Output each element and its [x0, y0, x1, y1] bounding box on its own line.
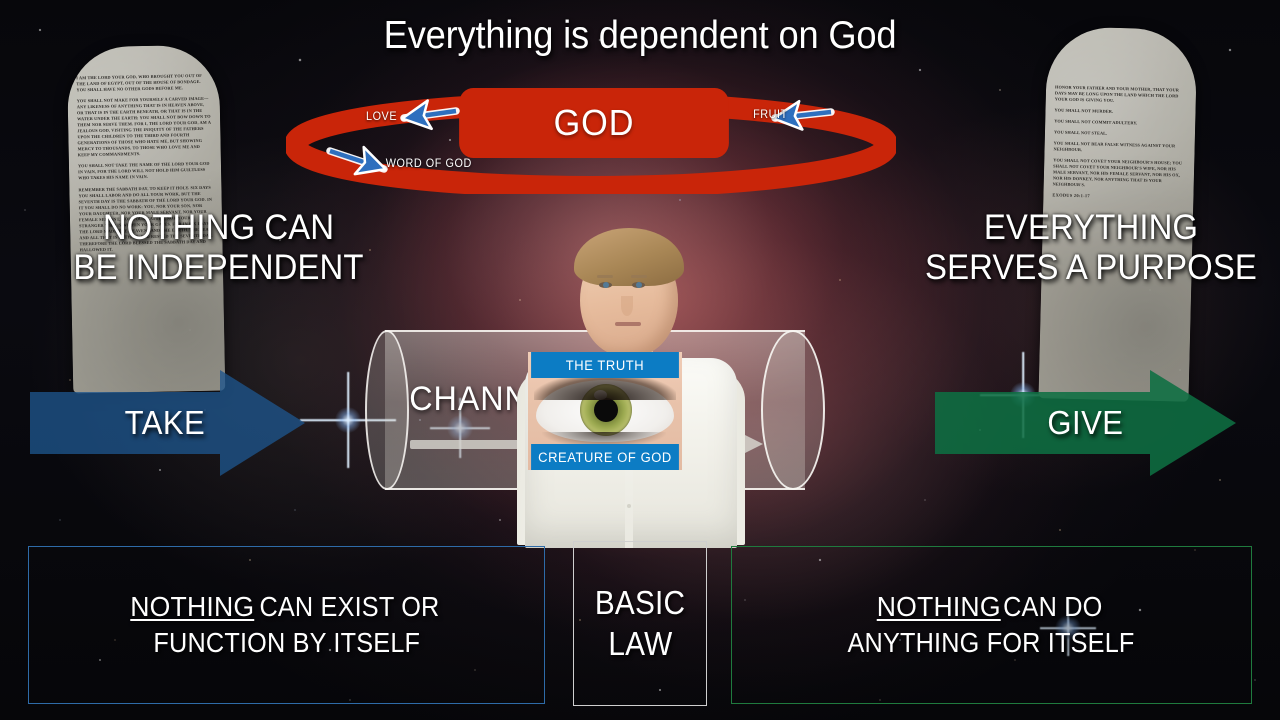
tablet-right-paragraph: You shall not commit adultery.: [1054, 119, 1186, 128]
person-nose: [621, 296, 633, 316]
give-arrow: GIVE: [935, 370, 1236, 476]
tablet-right-reference: Exodus 20:1-17: [1052, 193, 1184, 202]
cylinder-left-opening: [365, 330, 409, 490]
ring-label-word-of-god: WORD OF GOD: [386, 158, 472, 170]
eye-card: THE TRUTH CREATURE OF GOD: [528, 352, 682, 470]
take-arrow: TAKE: [30, 370, 305, 476]
heading-left: NOTHING CAN BE INDEPENDENT: [56, 208, 380, 288]
person-eyebrow-left: [597, 275, 613, 278]
heading-left-line2: BE INDEPENDENT: [56, 248, 380, 288]
bottom-box-left-rest1: CAN EXIST OR: [258, 589, 438, 625]
bottom-box-right: NOTHING CAN DO ANYTHING FOR ITSELF: [731, 546, 1252, 704]
page-title: Everything is dependent on God: [45, 16, 1235, 55]
bottom-box-right-text: NOTHING CAN DO ANYTHING FOR ITSELF: [840, 589, 1142, 661]
bottom-box-middle-line1: BASIC: [595, 583, 685, 624]
heading-left-line1: NOTHING CAN: [56, 208, 380, 248]
tablet-right-paragraph: Honor your father and your mother, that …: [1055, 84, 1187, 105]
tablet-left-paragraph: You shall not make for yourself a carved…: [77, 96, 212, 159]
bottom-box-right-line2: ANYTHING FOR ITSELF: [848, 625, 1135, 661]
bottom-box-right-emphasis: NOTHING: [877, 591, 1001, 622]
heading-right-line1: EVERYTHING: [916, 208, 1266, 248]
tablet-right-paragraph: You shall not covet your neighbour's hou…: [1053, 158, 1186, 191]
person-eye-right: [632, 282, 645, 288]
take-arrow-head-icon: [220, 370, 305, 476]
bottom-box-middle-text: BASIC LAW: [592, 583, 687, 665]
cylinder-right-opening: [761, 330, 825, 490]
bottom-box-right-rest1: CAN DO: [1004, 589, 1103, 625]
tablet-left-paragraph: You shall not take the name of the Lord …: [78, 161, 212, 182]
god-cycle-diagram: GOD LOVE FRUIT WORD OF GOD: [286, 88, 896, 194]
take-arrow-label: TAKE: [125, 404, 206, 442]
person-eyebrow-right: [631, 275, 647, 278]
tablet-left-paragraph: I am the Lord your God, who brought you …: [76, 73, 210, 94]
eye-card-bottom-banner: CREATURE OF GOD: [531, 444, 679, 470]
tablet-right-paragraph: You shall not murder.: [1054, 108, 1186, 117]
bottom-box-left-text: NOTHING CAN EXIST OR FUNCTION BY ITSELF: [130, 589, 444, 661]
give-arrow-head-icon: [1150, 370, 1236, 476]
bottom-box-left-emphasis: NOTHING: [130, 591, 254, 622]
bottom-box-middle-line2: LAW: [608, 624, 672, 665]
bottom-box-middle: BASIC LAW: [573, 541, 707, 706]
eye-card-top-banner: THE TRUTH: [531, 352, 679, 378]
person-mouth: [615, 322, 641, 326]
tablet-right-text: Honor your father and your mother, that …: [1052, 84, 1187, 207]
person-shirt-button: [627, 504, 631, 508]
tablet-right-paragraph: You shall not bear false witness against…: [1053, 141, 1185, 156]
person-eye-left: [599, 282, 612, 288]
heading-right-line2: SERVES A PURPOSE: [916, 248, 1266, 288]
bottom-box-left-line2: FUNCTION BY ITSELF: [153, 625, 420, 661]
ring-label-fruit: FRUIT: [753, 109, 788, 121]
give-arrow-label: GIVE: [1047, 404, 1123, 442]
ring-label-love: LOVE: [366, 111, 397, 123]
person-hair: [574, 228, 684, 286]
tablet-right-paragraph: You shall not steal.: [1054, 130, 1186, 139]
heading-right: EVERYTHING SERVES A PURPOSE: [916, 208, 1266, 288]
slide-canvas: I am the Lord your God, who brought you …: [0, 0, 1280, 720]
eye-pupil: [594, 398, 618, 422]
ring-arrow-group: [286, 88, 896, 194]
bottom-box-left: NOTHING CAN EXIST OR FUNCTION BY ITSELF: [28, 546, 545, 704]
